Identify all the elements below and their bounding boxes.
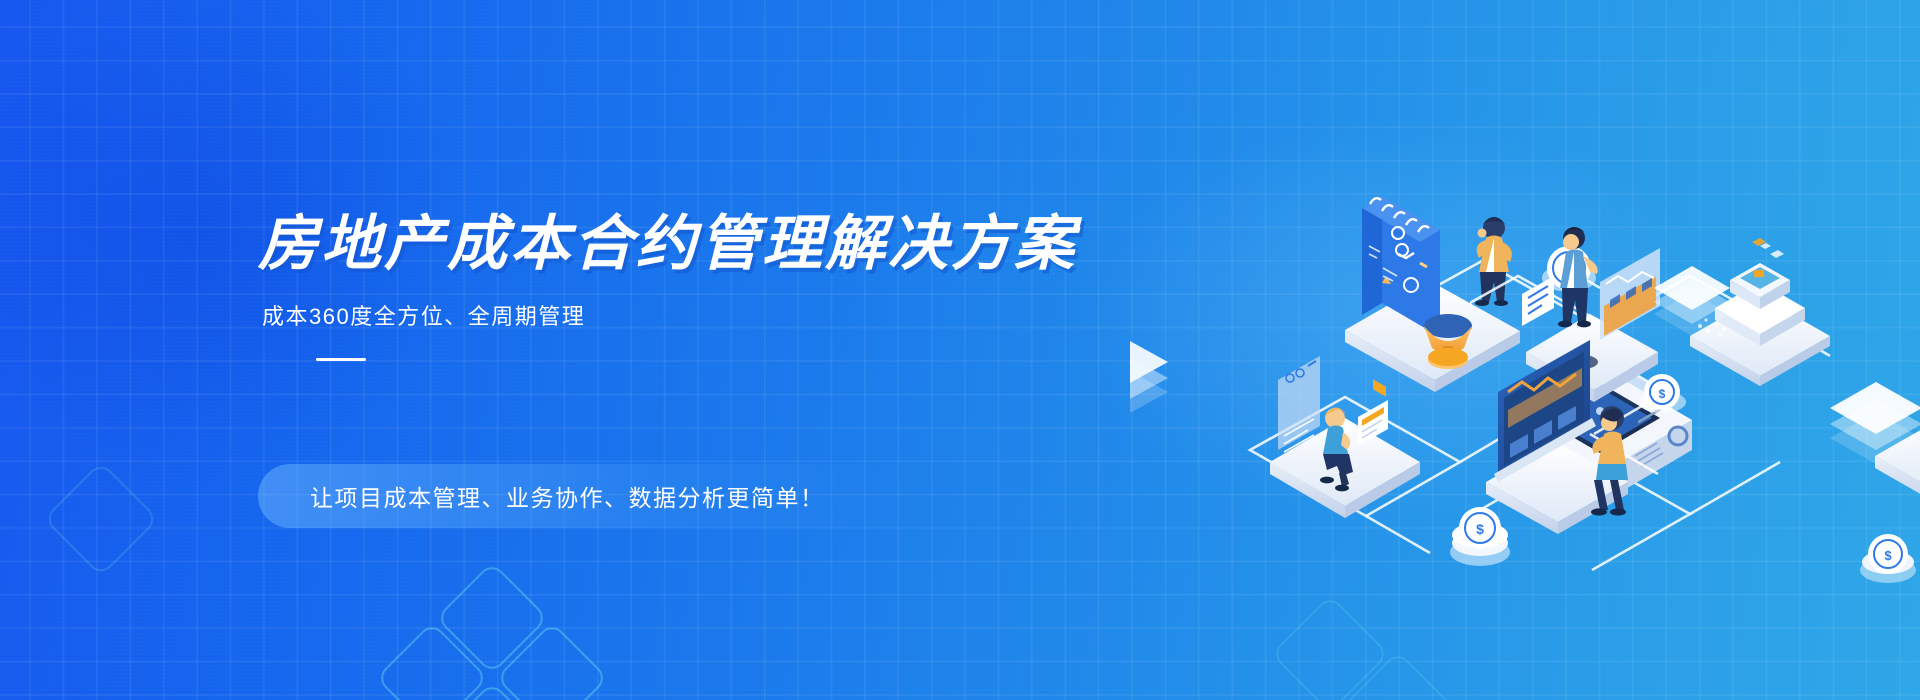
document-card-right: [1522, 276, 1554, 326]
page-subtitle: 成本360度全方位、全周期管理: [262, 302, 1018, 332]
diamond-cluster-top: [435, 561, 548, 674]
person-presenting-chart: [1558, 227, 1598, 327]
diamond-cluster-left: [375, 621, 488, 700]
floating-cards: [1130, 340, 1168, 414]
trophy: [1424, 314, 1472, 369]
tagline-pill: 让项目成本管理、业务协作、数据分析更简单！: [258, 464, 958, 528]
divider: [316, 358, 366, 361]
floating-cards-far-right: [1654, 266, 1730, 336]
platform-document: [1270, 356, 1420, 518]
chart-board: [1600, 248, 1660, 340]
right-diamond-lower: [1339, 651, 1458, 700]
right-diamond-upper: [1271, 595, 1390, 700]
diamond-cluster-right: [495, 621, 608, 700]
svg-text:$: $: [1659, 387, 1666, 401]
diamond-cluster-bottom: [435, 681, 548, 700]
hero-banner: 房地产成本合约管理解决方案 成本360度全方位、全周期管理 让项目成本管理、业务…: [0, 0, 1920, 700]
tagline-text: 让项目成本管理、业务协作、数据分析更简单！: [310, 479, 825, 513]
hero-illustration-right: $: [1470, 180, 1890, 600]
page-title: 房地产成本合约管理解决方案: [258, 214, 1018, 274]
hero-text-block: 房地产成本合约管理解决方案 成本360度全方位、全周期管理 让项目成本管理、业务…: [258, 214, 1018, 361]
single-diamond: [43, 461, 159, 577]
